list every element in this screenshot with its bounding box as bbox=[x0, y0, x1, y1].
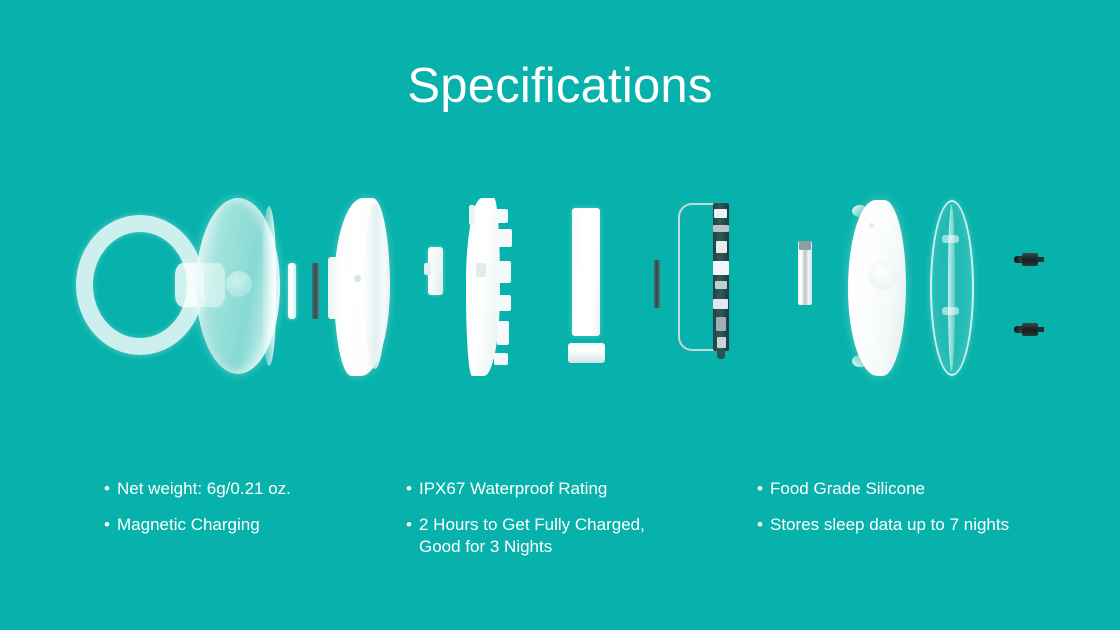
spec-item: Food Grade Silicone bbox=[757, 478, 1087, 500]
screw-head bbox=[1022, 323, 1038, 336]
exploded-product-diagram bbox=[0, 175, 1120, 425]
metal-connector-cap bbox=[799, 241, 811, 250]
spec-column-2: IPX67 Waterproof Rating 2 Hours to Get F… bbox=[406, 478, 746, 571]
specifications-slide: Specifications bbox=[0, 0, 1120, 630]
back-shell-highlight-bottom bbox=[852, 355, 868, 367]
front-shell-tab bbox=[328, 257, 342, 319]
back-shell-highlight-top bbox=[852, 205, 868, 217]
silicone-shield-crease bbox=[201, 265, 210, 303]
clear-ring-notch bbox=[942, 235, 959, 243]
silicone-shield-highlight bbox=[262, 206, 276, 366]
frame-notch bbox=[469, 205, 475, 225]
spec-item: IPX67 Waterproof Rating bbox=[406, 478, 746, 500]
pcb-component bbox=[713, 261, 729, 275]
frame-tab bbox=[494, 353, 508, 365]
spec-item: Stores sleep data up to 7 nights bbox=[757, 514, 1087, 536]
spec-column-3: Food Grade Silicone Stores sleep data up… bbox=[757, 478, 1087, 550]
pcb-component bbox=[716, 317, 726, 331]
button-nub bbox=[424, 263, 431, 275]
spec-column-1: Net weight: 6g/0.21 oz. Magnetic Chargin… bbox=[104, 478, 404, 550]
screw-head bbox=[1022, 253, 1038, 266]
frame-tab bbox=[496, 209, 508, 223]
pcb-component bbox=[715, 281, 727, 289]
clear-ring-notch bbox=[942, 307, 959, 315]
spec-item: 2 Hours to Get Fully Charged, Good for 3… bbox=[406, 514, 746, 558]
front-shell-lip bbox=[364, 203, 386, 369]
page-title: Specifications bbox=[0, 60, 1120, 114]
thin-strip bbox=[654, 260, 660, 308]
pcb-component bbox=[717, 337, 726, 348]
frame-tab bbox=[496, 229, 512, 247]
frame-tab bbox=[496, 295, 511, 311]
pcb-tip bbox=[717, 349, 725, 359]
pcb-component bbox=[713, 225, 729, 232]
spec-item: Net weight: 6g/0.21 oz. bbox=[104, 478, 404, 500]
screw-tail bbox=[1037, 327, 1044, 332]
front-shell-dot bbox=[354, 275, 361, 282]
battery-base bbox=[568, 343, 605, 363]
specs-list: Net weight: 6g/0.21 oz. Magnetic Chargin… bbox=[0, 478, 1120, 588]
frame-slot bbox=[476, 263, 486, 277]
gasket-strip-dark bbox=[312, 263, 319, 319]
screw-tail bbox=[1037, 257, 1044, 262]
back-shell-circle bbox=[868, 260, 898, 290]
back-shell-dot bbox=[869, 223, 874, 228]
silicone-shield-dimple bbox=[226, 271, 252, 297]
clear-ring-bar bbox=[948, 205, 955, 371]
screw-icon bbox=[1014, 323, 1044, 336]
pcb-component bbox=[713, 299, 728, 309]
gasket-strip-light bbox=[288, 263, 296, 319]
metal-connector bbox=[798, 241, 812, 305]
frame-tab bbox=[497, 321, 509, 345]
screw-icon bbox=[1014, 253, 1044, 266]
pcb-component bbox=[716, 241, 727, 253]
battery bbox=[572, 208, 600, 336]
frame-tab bbox=[498, 261, 511, 283]
pcb-component bbox=[714, 209, 727, 218]
spec-item: Magnetic Charging bbox=[104, 514, 404, 536]
